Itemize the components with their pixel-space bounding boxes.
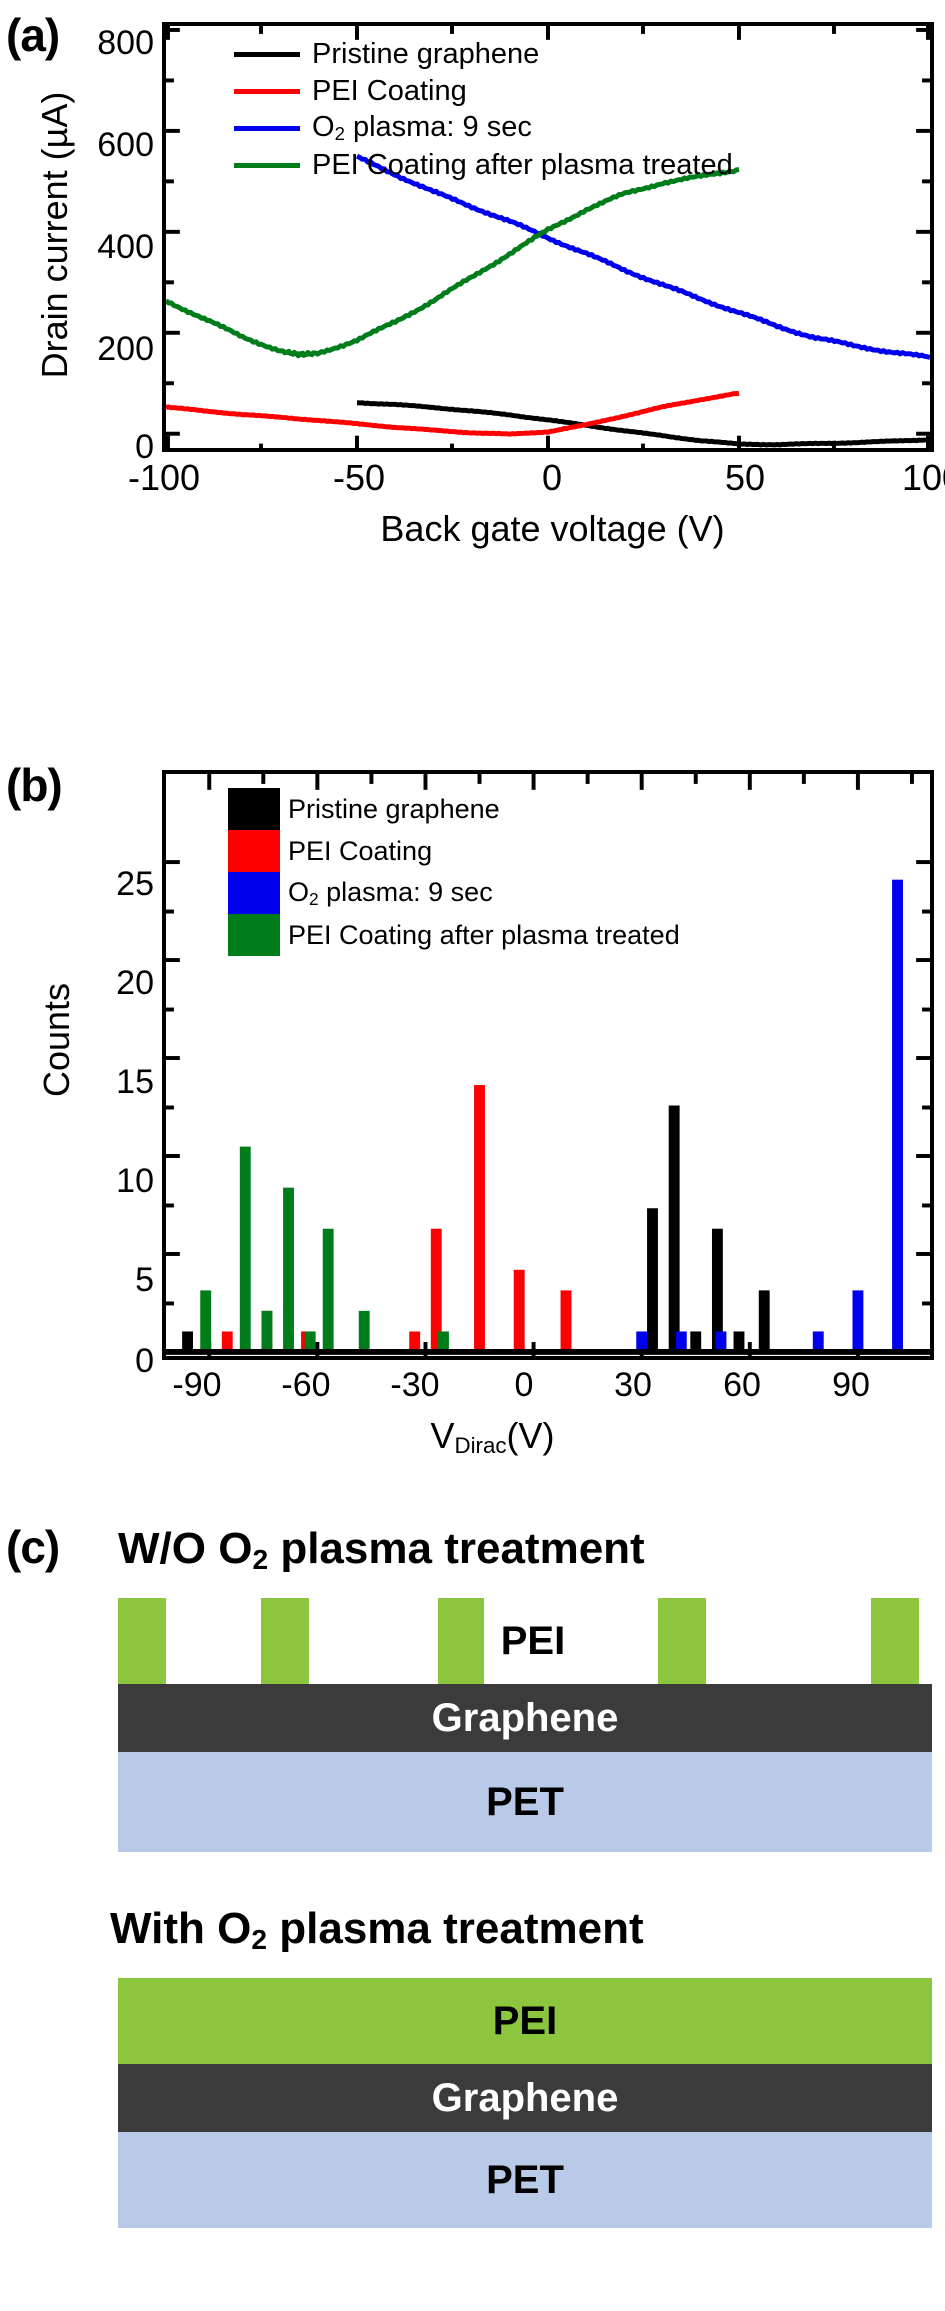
- pei-layer-2: PEI: [118, 1978, 932, 2064]
- panel-b-xtick-60: 60: [682, 1368, 802, 1402]
- legend-b-item-3: PEI Coating after plasma treated: [228, 914, 680, 956]
- legend-b-label-1: PEI Coating: [288, 836, 432, 867]
- bar-plasma: [852, 1290, 863, 1352]
- panel-a-ytick-200: 200: [58, 332, 154, 366]
- panel-b-x-axis-label: VDirac(V): [20, 1415, 945, 1459]
- legend-b-label-0: Pristine graphene: [288, 794, 500, 825]
- bar-pristine: [759, 1290, 770, 1352]
- bar-plasma: [676, 1331, 687, 1352]
- pei-island-1: [118, 1598, 166, 1684]
- bar-pei-after-plasma: [438, 1331, 449, 1352]
- panel-c-label: (c): [6, 1520, 59, 1574]
- bar-pei: [514, 1270, 525, 1352]
- bar-pei-after-plasma: [240, 1147, 251, 1352]
- graphene-label-1: Graphene: [432, 1696, 619, 1741]
- schematic-2: PEI Graphene PET: [118, 1978, 932, 2228]
- bar-pristine: [669, 1106, 680, 1352]
- pet-layer-1: PET: [118, 1752, 932, 1852]
- legend-a-swatch-1: [234, 89, 300, 94]
- graphene-layer-1: Graphene: [118, 1684, 932, 1752]
- legend-b-item-1: PEI Coating: [228, 830, 680, 872]
- panel-b-y-axis-label: Counts: [36, 910, 78, 1170]
- panel-b-xtick-0: 0: [464, 1368, 584, 1402]
- bar-pei-after-plasma: [323, 1229, 334, 1352]
- bar-pristine: [647, 1208, 658, 1352]
- pei-label-2: PEI: [493, 1999, 557, 2044]
- bar-pristine: [182, 1331, 193, 1352]
- legend-b-item-2: O2 plasma: 9 sec: [228, 872, 680, 914]
- bar-pei-after-plasma: [305, 1331, 316, 1352]
- legend-a-label-1: PEI Coating: [312, 75, 467, 108]
- panel-b-ytick-15: 15: [56, 1065, 154, 1099]
- panel-a-x-axis-label: Back gate voltage (V): [80, 508, 945, 550]
- schematic-1-title: W/O O2 plasma treatment: [118, 1524, 645, 1576]
- panel-b-ytick-10: 10: [56, 1164, 154, 1198]
- panel-a-legend: Pristine graphene PEI Coating O2 plasma:…: [234, 36, 733, 184]
- bar-pei: [474, 1085, 485, 1352]
- panel-a-ytick-800: 800: [58, 26, 154, 60]
- legend-a-label-2: O2 plasma: 9 sec: [312, 111, 532, 145]
- panel-b-xtick--30: -30: [355, 1368, 475, 1402]
- pet-layer-2: PET: [118, 2132, 932, 2228]
- legend-b-swatch-0: [228, 788, 280, 830]
- panel-a-xtick-0: 0: [482, 460, 622, 496]
- legend-a-label-0: Pristine graphene: [312, 38, 539, 71]
- legend-b-swatch-3: [228, 914, 280, 956]
- pei-island-5: [871, 1598, 919, 1684]
- legend-b-swatch-1: [228, 830, 280, 872]
- pei-island-2: [261, 1598, 309, 1684]
- legend-a-item-0: Pristine graphene: [234, 36, 733, 73]
- panel-b-xtick-30: 30: [573, 1368, 693, 1402]
- bar-pei-after-plasma: [261, 1311, 272, 1352]
- graphene-layer-2: Graphene: [118, 2064, 932, 2132]
- bar-plasma: [636, 1331, 647, 1352]
- panel-b-xtick--60: -60: [246, 1368, 366, 1402]
- legend-a-swatch-2: [234, 126, 300, 131]
- bar-pei: [409, 1331, 420, 1352]
- panel-b-ytick-20: 20: [56, 966, 154, 1000]
- bar-pei-after-plasma: [359, 1311, 370, 1352]
- legend-b-swatch-2: [228, 872, 280, 914]
- panel-a-xtick-50: 50: [675, 460, 815, 496]
- panel-a-label: (a): [6, 8, 59, 62]
- bar-pei: [222, 1331, 233, 1352]
- legend-a-item-1: PEI Coating: [234, 73, 733, 110]
- panel-b-xtick-90: 90: [791, 1368, 911, 1402]
- legend-b-label-2: O2 plasma: 9 sec: [288, 877, 493, 910]
- panel-a-xtick--50: -50: [289, 460, 429, 496]
- curve-1: [166, 393, 739, 434]
- panel-a: (a) Drain current (µA) 800 600 400 200 0: [0, 0, 945, 690]
- legend-b-item-0: Pristine graphene: [228, 788, 680, 830]
- bar-plasma: [813, 1331, 824, 1352]
- pet-label-2: PET: [486, 2158, 564, 2203]
- legend-a-item-2: O2 plasma: 9 sec: [234, 110, 733, 147]
- schematic-2-title: With O2 plasma treatment: [110, 1904, 644, 1956]
- panel-b-xtick--90: -90: [137, 1368, 257, 1402]
- panel-a-xtick-100: 100: [862, 460, 945, 496]
- pet-label-1: PET: [486, 1780, 564, 1825]
- bar-pei-after-plasma: [200, 1290, 211, 1352]
- panel-b-legend: Pristine graphene PEI Coating O2 plasma:…: [228, 788, 680, 956]
- panel-b-plot-area: Pristine graphene PEI Coating O2 plasma:…: [162, 770, 934, 1360]
- panel-c: (c) W/O O2 plasma treatment PEI Graphene…: [0, 1490, 945, 2311]
- panel-b: (b) Counts 25 20 15 10 5 0: [0, 690, 945, 1490]
- bar-pristine: [690, 1331, 701, 1352]
- bar-plasma: [892, 880, 903, 1352]
- bar-plasma: [716, 1331, 727, 1352]
- panel-b-label: (b): [6, 758, 62, 812]
- panel-a-xtick--100: -100: [94, 460, 234, 496]
- pei-label-area-1: PEI: [368, 1608, 698, 1674]
- legend-a-label-3: PEI Coating after plasma treated: [312, 149, 733, 182]
- panel-b-ytick-25: 25: [56, 867, 154, 901]
- graphene-label-2: Graphene: [432, 2076, 619, 2121]
- pei-label-1: PEI: [501, 1619, 565, 1664]
- panel-a-ytick-600: 600: [58, 128, 154, 162]
- panel-a-plot-area: Pristine graphene PEI Coating O2 plasma:…: [162, 22, 934, 452]
- bar-pristine: [734, 1331, 745, 1352]
- panel-b-ytick-5: 5: [56, 1263, 154, 1297]
- legend-a-swatch-3: [234, 163, 300, 168]
- bar-pei-after-plasma: [283, 1188, 294, 1352]
- bar-pei: [561, 1290, 572, 1352]
- legend-a-item-3: PEI Coating after plasma treated: [234, 147, 733, 184]
- legend-a-swatch-0: [234, 52, 300, 57]
- legend-b-label-3: PEI Coating after plasma treated: [288, 920, 680, 951]
- schematic-1: PEI Graphene PET: [118, 1598, 932, 1852]
- panel-a-ytick-400: 400: [58, 230, 154, 264]
